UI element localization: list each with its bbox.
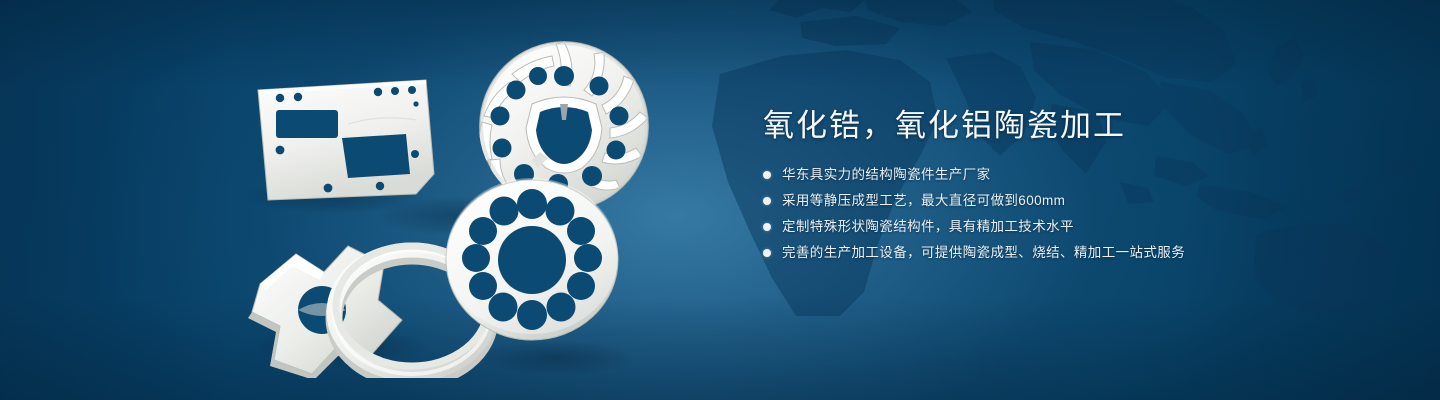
feature-text: 定制特殊形状陶瓷结构件，具有精加工技术水平 <box>782 218 1074 236</box>
filled-circle-bullet-icon <box>763 171 771 179</box>
hero-banner: 氧化锆，氧化铝陶瓷加工 华东具实力的结构陶瓷件生产厂家 采用等静压成型工艺，最大… <box>0 0 1440 400</box>
feature-list: 华东具实力的结构陶瓷件生产厂家 采用等静压成型工艺，最大直径可做到600mm 定… <box>763 166 1383 262</box>
list-item: 完善的生产加工设备，可提供陶瓷成型、烧结、精加工一站式服务 <box>763 244 1383 262</box>
list-item: 定制特殊形状陶瓷结构件，具有精加工技术水平 <box>763 218 1383 236</box>
ceramic-plate <box>258 80 434 200</box>
list-item: 采用等静压成型工艺，最大直径可做到600mm <box>763 192 1383 210</box>
filled-circle-bullet-icon <box>763 249 771 257</box>
page-title: 氧化锆，氧化铝陶瓷加工 <box>763 104 1383 148</box>
filled-circle-bullet-icon <box>763 223 771 231</box>
list-item: 华东具实力的结构陶瓷件生产厂家 <box>763 166 1383 184</box>
ceramic-hole-disc <box>446 178 618 340</box>
filled-circle-bullet-icon <box>763 197 771 205</box>
ceramic-parts-photo <box>230 28 720 378</box>
hero-copy: 氧化锆，氧化铝陶瓷加工 华东具实力的结构陶瓷件生产厂家 采用等静压成型工艺，最大… <box>763 104 1383 270</box>
feature-text: 采用等静压成型工艺，最大直径可做到600mm <box>782 192 1065 210</box>
feature-text: 完善的生产加工设备，可提供陶瓷成型、烧结、精加工一站式服务 <box>782 244 1185 262</box>
feature-text: 华东具实力的结构陶瓷件生产厂家 <box>782 166 991 184</box>
